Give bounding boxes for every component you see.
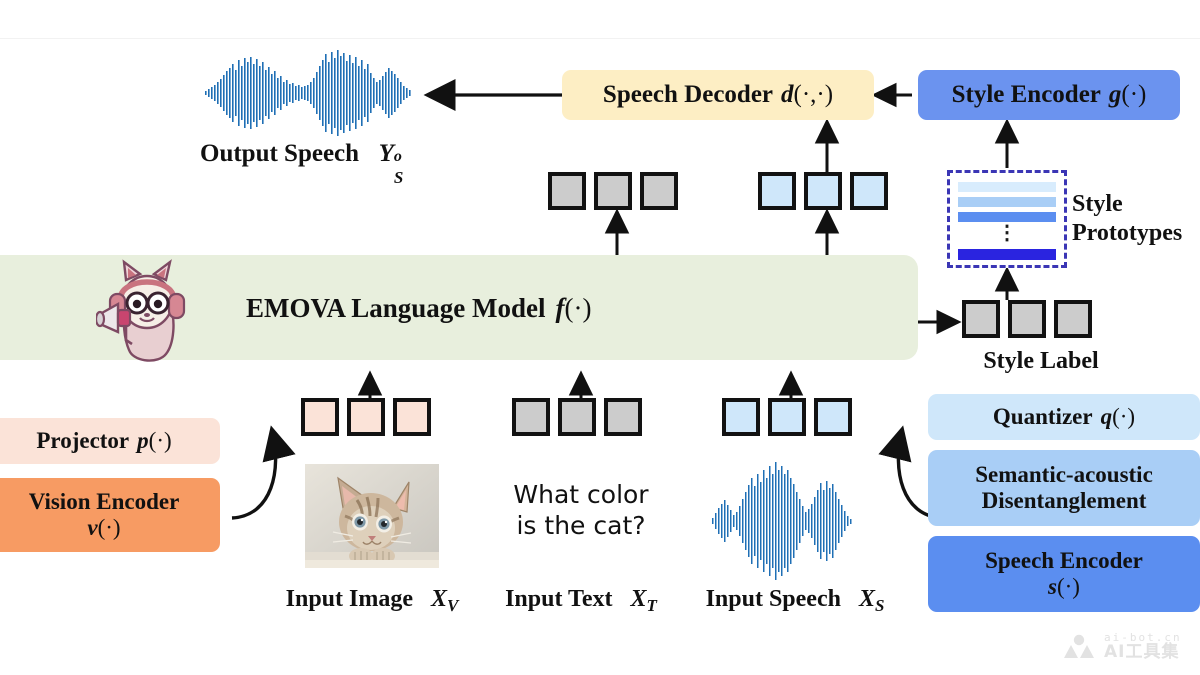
- input-image-caption: Input Image XV: [281, 586, 463, 613]
- input-image-subscript: V: [447, 596, 458, 615]
- semantic-acoustic-disentanglement-block[interactable]: Semantic-acoustic Disentanglement: [928, 450, 1200, 526]
- prototype-bar: [958, 182, 1056, 192]
- quantizer-symbol: q: [1101, 404, 1113, 430]
- token-square: [814, 398, 852, 436]
- token-square: [1008, 300, 1046, 338]
- style-encoder-symbol: g: [1109, 81, 1122, 109]
- quantizer-block[interactable]: Quantizer q (·): [928, 394, 1200, 440]
- question-line2: is the cat?: [491, 511, 671, 542]
- input-text-question: What color is the cat?: [491, 480, 671, 541]
- output-speech-waveform: [205, 50, 411, 136]
- vision-encoder-label: Vision Encoder: [29, 489, 180, 515]
- style-label-tokens: [962, 300, 1092, 338]
- output-speech-caption-text: Output Speech: [200, 140, 359, 167]
- speech-decoder-label: Speech Decoder: [603, 81, 773, 109]
- style-encoder-block[interactable]: Style Encoder g (·): [918, 70, 1180, 120]
- token-square: [393, 398, 431, 436]
- vision-encoder-symbol: v: [87, 515, 97, 541]
- text-tokens: [512, 398, 642, 436]
- style-prototypes-caption-line2: Prototypes: [1072, 219, 1182, 248]
- token-square: [594, 172, 632, 210]
- input-speech-symbol: X: [859, 586, 875, 612]
- input-speech-subscript: S: [875, 596, 884, 615]
- input-speech-waveform: [712, 462, 852, 580]
- projector-symbol: p: [137, 428, 149, 454]
- style-prototypes-caption: Style Prototypes: [1072, 190, 1182, 248]
- language-model-symbol: f: [556, 292, 565, 322]
- disentanglement-label-line1: Semantic-acoustic: [975, 462, 1153, 488]
- token-square: [347, 398, 385, 436]
- arrow-vision-encoder-to-tokens: [232, 430, 276, 518]
- token-square: [1054, 300, 1092, 338]
- token-square: [804, 172, 842, 210]
- projector-label: Projector: [36, 428, 129, 454]
- disentanglement-label-line2: Disentanglement: [982, 488, 1147, 514]
- language-model-args: (·): [565, 292, 592, 322]
- input-image-caption-text: Input Image: [286, 586, 413, 612]
- speech-encoder-symbol: s: [1048, 574, 1057, 600]
- token-square: [768, 398, 806, 436]
- input-speech-caption-text: Input Speech: [706, 586, 841, 612]
- input-text-symbol: X: [630, 586, 646, 612]
- prototype-bar: [958, 197, 1056, 207]
- language-model-label: EMOVA Language Model: [246, 292, 546, 322]
- question-line1: What color: [491, 480, 671, 511]
- style-encoder-label: Style Encoder: [952, 81, 1101, 109]
- prototype-ellipsis: ⋮: [950, 228, 1064, 238]
- quantizer-args: (·): [1112, 404, 1135, 430]
- speech-decoder-symbol: d: [781, 81, 794, 109]
- token-square: [301, 398, 339, 436]
- speech-encoder-args: (·): [1057, 574, 1080, 600]
- vision-encoder-args: (·): [98, 515, 121, 541]
- token-square: [850, 172, 888, 210]
- top-divider-line: [0, 38, 1200, 39]
- token-square: [512, 398, 550, 436]
- input-speech-caption: Input Speech XS: [700, 586, 890, 613]
- lm-text-output-tokens: [548, 172, 678, 210]
- output-speech-symbol: Y: [379, 140, 394, 167]
- token-square: [758, 172, 796, 210]
- output-speech-superscript: o: [394, 148, 402, 166]
- emova-llama-mascot-icon: [96, 258, 196, 366]
- speech-tokens: [722, 398, 852, 436]
- style-prototypes-caption-line1: Style: [1072, 190, 1182, 219]
- input-image-cat-photo: [305, 464, 439, 568]
- lm-speech-output-tokens: [758, 172, 888, 210]
- projector-args: (·): [149, 428, 172, 454]
- style-prototypes-box: ⋮: [947, 170, 1067, 268]
- output-speech-caption: Output Speech Y o S: [200, 140, 405, 168]
- image-tokens: [301, 398, 431, 436]
- input-text-caption: Input Text XT: [495, 586, 667, 613]
- token-square: [962, 300, 1000, 338]
- style-label-caption: Style Label: [962, 348, 1120, 375]
- token-square: [548, 172, 586, 210]
- speech-decoder-args: (·,·): [794, 81, 834, 109]
- input-text-subscript: T: [647, 596, 657, 615]
- vision-encoder-block[interactable]: Vision Encoder v (·): [0, 478, 220, 552]
- quantizer-label: Quantizer: [993, 404, 1093, 430]
- input-image-symbol: X: [431, 586, 447, 612]
- token-square: [640, 172, 678, 210]
- projector-block[interactable]: Projector p (·): [0, 418, 220, 464]
- prototype-bar: [958, 212, 1056, 222]
- style-encoder-args: (·): [1121, 81, 1146, 109]
- speech-encoder-label: Speech Encoder: [985, 548, 1143, 574]
- token-square: [558, 398, 596, 436]
- input-text-caption-text: Input Text: [505, 586, 612, 612]
- watermark-brand: AI工具集: [1104, 644, 1182, 662]
- watermark-logo-icon: [1062, 634, 1096, 660]
- speech-decoder-block[interactable]: Speech Decoder d (·,·): [562, 70, 874, 120]
- speech-encoder-block[interactable]: Speech Encoder s (·): [928, 536, 1200, 612]
- prototype-bar-last: [958, 249, 1056, 260]
- watermark: ai-bot.cn AI工具集: [1062, 632, 1182, 661]
- token-square: [722, 398, 760, 436]
- token-square: [604, 398, 642, 436]
- output-speech-subscript: S: [394, 168, 403, 188]
- figure-canvas: Speech Decoder d (·,·) Style Encoder g (…: [0, 0, 1200, 675]
